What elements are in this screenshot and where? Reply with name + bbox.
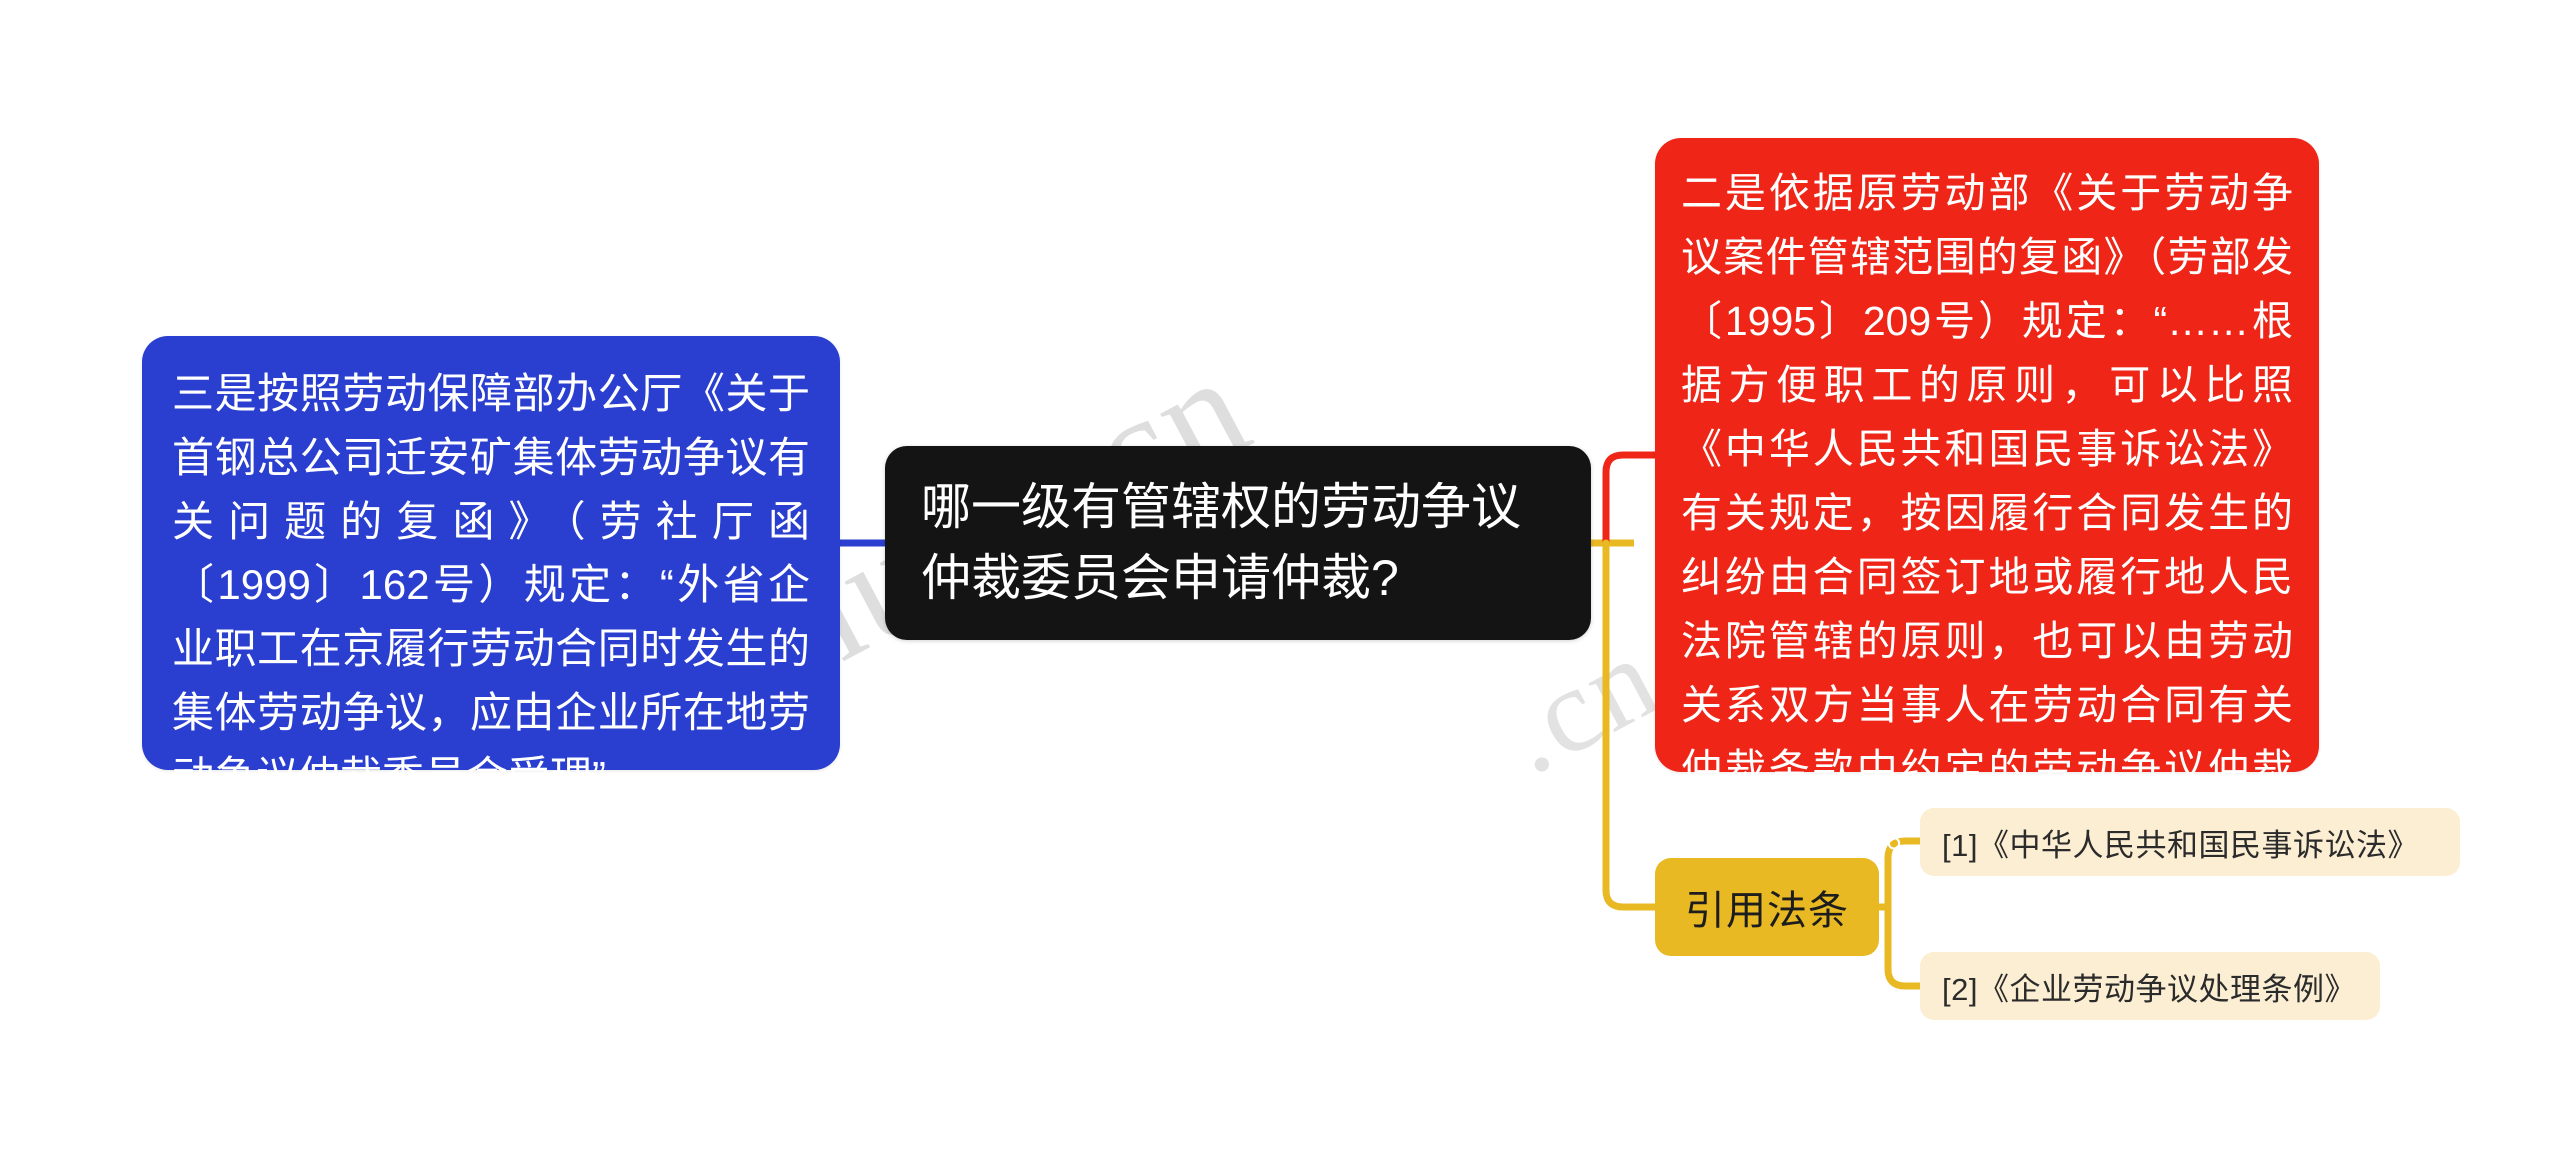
- center-topic-node[interactable]: 哪一级有管辖权的劳动争议仲裁委员会申请仲裁?: [885, 446, 1591, 640]
- reference-item-2[interactable]: [2]《企业劳动争议处理条例》: [1920, 952, 2380, 1020]
- branch-node-left-blue[interactable]: 三是按照劳动保障部办公厅《关于首钢总公司迁安矿集体劳动争议有关问题的复函》（劳社…: [142, 336, 840, 770]
- branch-node-right-yellow[interactable]: 引用法条: [1655, 858, 1879, 956]
- branch-node-right-red[interactable]: 二是依据原劳动部《关于劳动争议案件管辖范围的复函》（劳部发〔1995〕209号）…: [1655, 138, 2319, 772]
- mindmap-canvas: huilv.cn .cn 三是按照劳动保障部办公厅《关于首钢总公司迁安矿集体劳动…: [0, 0, 2560, 1150]
- connector-right-yellow: [1606, 543, 1657, 907]
- connector-right-red: [1606, 455, 1657, 543]
- reference-item-1[interactable]: [1]《中华人民共和国民事诉讼法》: [1920, 808, 2460, 876]
- connector-ref-2: [1879, 907, 1921, 986]
